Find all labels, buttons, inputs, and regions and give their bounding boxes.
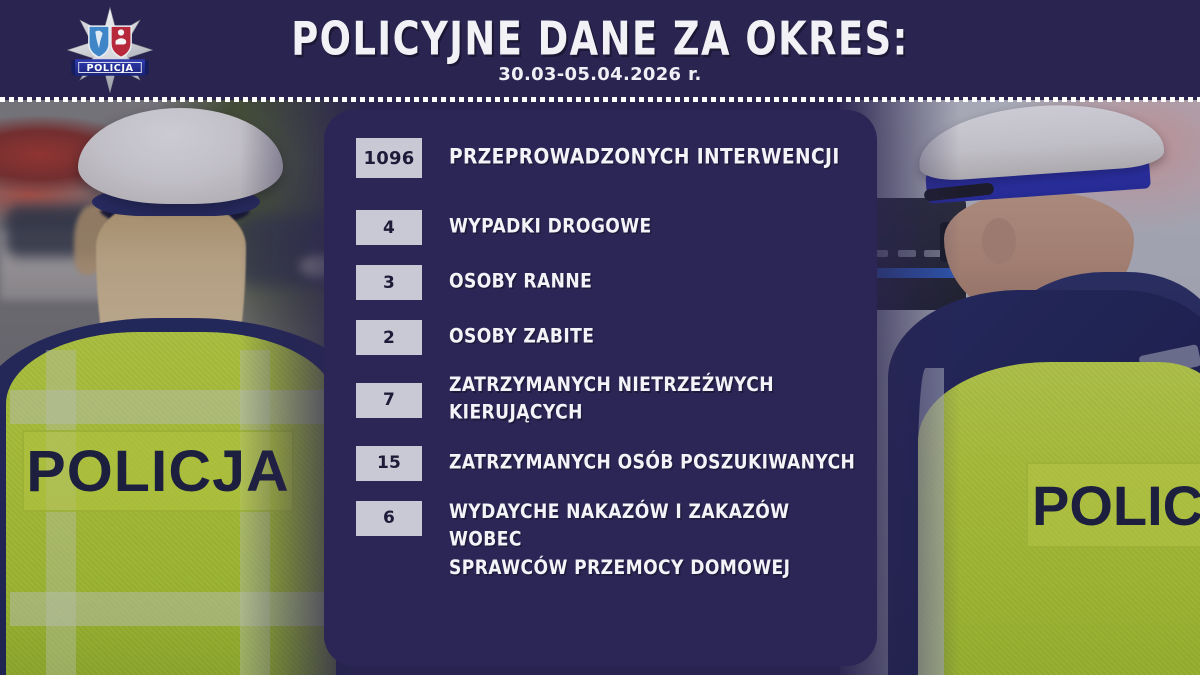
stat-row: 15 ZATRZYMANYCH OSÓB POSZUKIWANYCH	[324, 446, 877, 481]
stat-label: ZATRZYMANYCH NIETRZEŹWYCH KIERUJĄCYCH	[449, 372, 868, 428]
stat-value-chip: 3	[356, 265, 422, 300]
stat-value-chip: 6	[356, 501, 422, 536]
stat-row: 6 WYDAYCHE NAKAZÓW I ZAKAZÓW WOBEC SPRAW…	[324, 501, 877, 579]
stat-label: ZATRZYMANYCH OSÓB POSZUKIWANYCH	[449, 449, 855, 477]
stat-label: OSOBY RANNE	[449, 269, 592, 297]
stats-list: 1096 PRZEPROWADZONYCH INTERWENCJI 4 WYPA…	[324, 138, 877, 579]
stat-row: 2 OSOBY ZABITE	[324, 320, 877, 355]
stat-row: 7 ZATRZYMANYCH NIETRZEŹWYCH KIERUJĄCYCH	[324, 375, 877, 426]
stat-row: 1096 PRZEPROWADZONYCH INTERWENCJI	[324, 138, 877, 178]
photo-left-officer: POLICJA	[0, 100, 360, 675]
stat-label: WYDAYCHE NAKAZÓW I ZAKAZÓW WOBEC SPRAWCÓ…	[449, 499, 868, 583]
stat-value-chip: 7	[356, 383, 422, 418]
poster-root: POLICJA POLIC	[0, 0, 1200, 675]
stat-value-chip: 2	[356, 320, 422, 355]
photo-right-officer: POLIC	[840, 100, 1200, 675]
stat-label: OSOBY ZABITE	[449, 324, 594, 352]
stats-panel: 1096 PRZEPROWADZONYCH INTERWENCJI 4 WYPA…	[324, 110, 877, 666]
stat-row: 4 WYPADKI DROGOWE	[324, 210, 877, 245]
date-range-subtitle: 30.03-05.04.2026 r.	[0, 64, 1200, 85]
page-title: POLICYJNE DANE ZA OKRES:	[18, 12, 1182, 66]
stat-value-chip: 4	[356, 210, 422, 245]
header-bar: POLICJA POLICYJNE DANE ZA OKRES: 30.03-0…	[0, 0, 1200, 100]
stat-label: PRZEPROWADZONYCH INTERWENCJI	[449, 143, 840, 173]
stat-value-chip: 15	[356, 446, 422, 481]
stat-label: WYPADKI DROGOWE	[449, 214, 652, 242]
stat-row: 3 OSOBY RANNE	[324, 265, 877, 300]
dashed-divider	[0, 97, 1200, 102]
stat-value-chip: 1096	[356, 138, 422, 178]
